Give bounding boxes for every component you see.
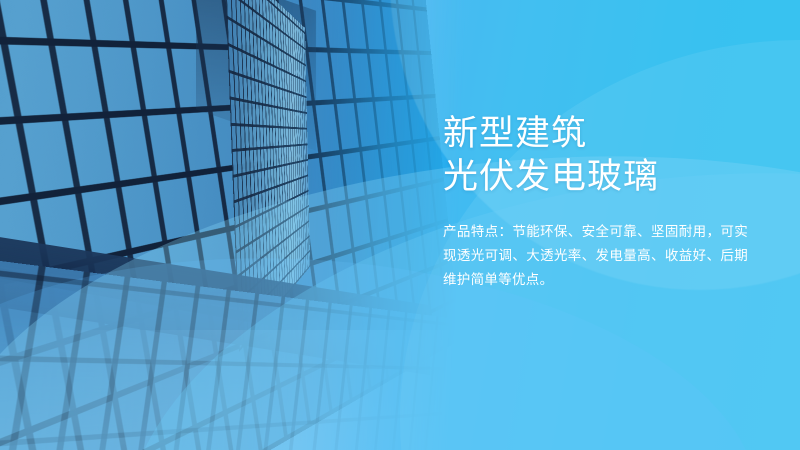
product-description: 产品特点：节能环保、安全可靠、坚固耐用，可实现透光可调、大透光率、发电量高、收益… xyxy=(443,220,748,292)
banner-content: 新型建筑 光伏发电玻璃 产品特点：节能环保、安全可靠、坚固耐用，可实现透光可调、… xyxy=(443,112,763,292)
product-banner: 新型建筑 光伏发电玻璃 产品特点：节能环保、安全可靠、坚固耐用，可实现透光可调、… xyxy=(0,0,800,450)
headline-line-2: 光伏发电玻璃 xyxy=(443,155,763,198)
page-title: 新型建筑 光伏发电玻璃 xyxy=(443,112,763,198)
headline-line-1: 新型建筑 xyxy=(443,112,763,155)
